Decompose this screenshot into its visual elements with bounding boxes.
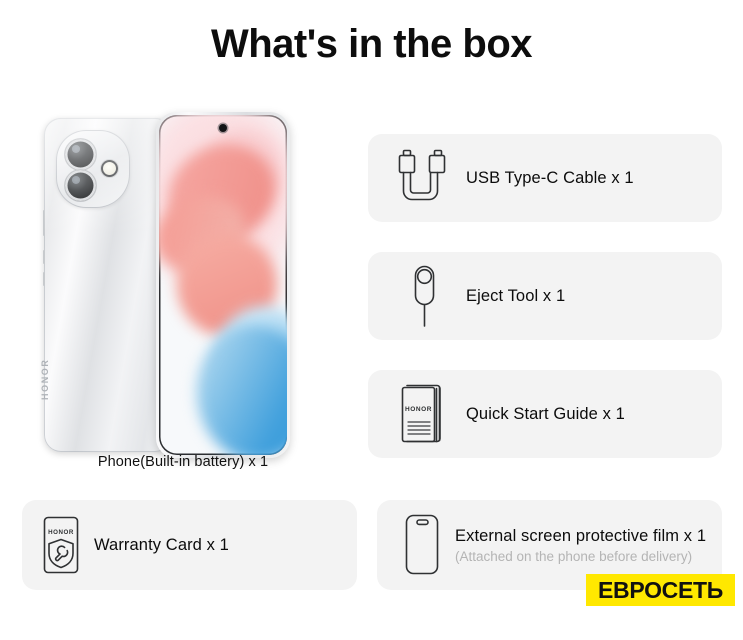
camera-lens-main-icon: [65, 139, 96, 170]
item-sublabel: (Attached on the phone before delivery): [455, 549, 706, 564]
evroset-logo-text: ЕВРОСЕТЬ: [598, 577, 723, 604]
item-label-group: Quick Start Guide x 1: [466, 405, 625, 424]
wallpaper-blob-blue-1: [188, 318, 287, 455]
svg-text:HONOR: HONOR: [48, 529, 74, 536]
item-card-quick-start-guide[interactable]: HONOR Quick Start Guide x 1: [368, 370, 722, 458]
item-label-group: Eject Tool x 1: [466, 287, 565, 306]
warranty-card-icon: HONOR: [28, 514, 94, 576]
item-label: Quick Start Guide x 1: [466, 405, 625, 424]
svg-text:HONOR: HONOR: [405, 406, 432, 413]
punch-hole-camera-icon: [219, 124, 227, 132]
whats-in-the-box-page: What's in the box HONOR: [0, 0, 743, 640]
phone-screen: [159, 115, 287, 455]
camera-flash-icon: [101, 160, 118, 177]
phone-product-image: HONOR Phone(Built-in battery) x 1: [18, 112, 348, 480]
item-label-group: External screen protective film x 1 (Att…: [455, 527, 706, 564]
phone-back-view: HONOR: [44, 118, 172, 452]
item-label: USB Type-C Cable x 1: [466, 169, 634, 188]
volume-up-button-icon: [43, 250, 45, 264]
item-card-usb-cable[interactable]: USB Type-C Cable x 1: [368, 134, 722, 222]
camera-lens-secondary-icon: [65, 170, 96, 201]
phone-brand-label: HONOR: [40, 330, 50, 400]
item-card-warranty-card[interactable]: HONOR Warranty Card x 1: [22, 500, 357, 590]
item-label: Eject Tool x 1: [466, 287, 565, 306]
screen-protective-film-icon: [385, 512, 455, 578]
volume-down-button-icon: [43, 272, 45, 286]
item-label-group: USB Type-C Cable x 1: [466, 169, 634, 188]
quick-start-guide-icon: HONOR: [382, 381, 466, 447]
phone-caption: Phone(Built-in battery) x 1: [18, 454, 348, 470]
camera-module: [56, 130, 130, 208]
phone-front-view: [156, 112, 290, 458]
evroset-logo-badge: ЕВРОСЕТЬ: [586, 574, 735, 606]
page-title: What's in the box: [0, 22, 743, 67]
power-button-icon: [43, 210, 45, 236]
eject-tool-icon: [382, 263, 466, 329]
usb-type-c-cable-icon: [382, 147, 466, 209]
item-label: External screen protective film x 1: [455, 527, 706, 546]
item-card-eject-tool[interactable]: Eject Tool x 1: [368, 252, 722, 340]
item-label-group: Warranty Card x 1: [94, 536, 229, 555]
item-label: Warranty Card x 1: [94, 536, 229, 555]
